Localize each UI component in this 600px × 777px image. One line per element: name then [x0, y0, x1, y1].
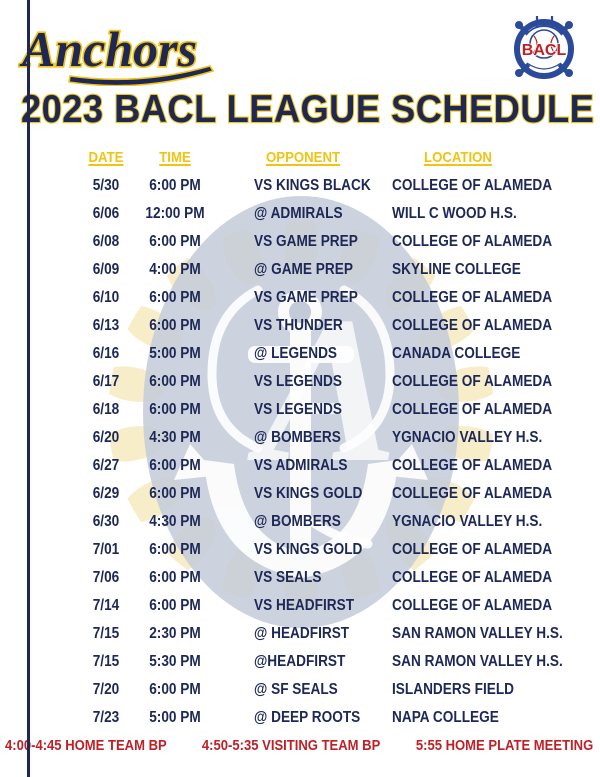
- cell-date: 7/20: [81, 680, 130, 700]
- cell-date: 7/01: [81, 540, 130, 560]
- footer-note-visiting-bp: 4:50-5:35 VISITING TEAM BP: [195, 737, 388, 755]
- cell-time: 6:00 PM: [142, 288, 207, 308]
- table-row: 7/15 5:30 PM @HEADFIRST SAN RAMON VALLEY…: [0, 652, 600, 680]
- cell-opponent: VS THUNDER: [254, 316, 343, 336]
- cell-opponent: @HEADFIRST: [254, 652, 345, 672]
- bacl-circular-logo: BACL: [505, 8, 583, 86]
- cell-opponent: @ HEADFIRST: [254, 624, 349, 644]
- cell-opponent: VS GAME PREP: [254, 232, 358, 252]
- cell-opponent: @ LEGENDS: [254, 344, 337, 364]
- cell-date: 7/14: [81, 596, 130, 616]
- table-row: 5/30 6:00 PM VS KINGS BLACK COLLEGE OF A…: [0, 176, 600, 204]
- cell-time: 12:00 PM: [142, 204, 207, 224]
- table-row: 7/15 2:30 PM @ HEADFIRST SAN RAMON VALLE…: [0, 624, 600, 652]
- cell-date: 6/08: [81, 232, 130, 252]
- table-row: 6/13 6:00 PM VS THUNDER COLLEGE OF ALAME…: [0, 316, 600, 344]
- cell-location: WILL C WOOD H.S.: [392, 204, 517, 224]
- cell-location: COLLEGE OF ALAMEDA: [392, 568, 552, 588]
- cell-location: COLLEGE OF ALAMEDA: [392, 400, 552, 420]
- cell-time: 5:00 PM: [142, 344, 207, 364]
- page-title: 2023 BACL LEAGUE SCHEDULE: [21, 90, 579, 130]
- table-row: 7/01 6:00 PM VS KINGS GOLD COLLEGE OF AL…: [0, 540, 600, 568]
- cell-location: COLLEGE OF ALAMEDA: [392, 484, 552, 504]
- cell-date: 7/15: [81, 652, 130, 672]
- cell-location: SAN RAMON VALLEY H.S.: [392, 652, 563, 672]
- cell-opponent: VS SEALS: [254, 568, 321, 588]
- cell-date: 6/09: [81, 260, 130, 280]
- cell-opponent: @ BOMBERS: [254, 512, 341, 532]
- cell-location: COLLEGE OF ALAMEDA: [392, 540, 552, 560]
- cell-date: 6/16: [81, 344, 130, 364]
- cell-date: 7/15: [81, 624, 130, 644]
- table-row: 6/06 12:00 PM @ ADMIRALS WILL C WOOD H.S…: [0, 204, 600, 232]
- cell-opponent: VS KINGS GOLD: [254, 484, 362, 504]
- left-vertical-rule: [27, 0, 30, 777]
- cell-opponent: VS ADMIRALS: [254, 456, 347, 476]
- cell-date: 6/13: [81, 316, 130, 336]
- cell-opponent: VS GAME PREP: [254, 288, 358, 308]
- cell-date: 6/29: [81, 484, 130, 504]
- cell-date: 6/17: [81, 372, 130, 392]
- cell-opponent: VS KINGS BLACK: [254, 176, 371, 196]
- column-header-opponent: OPPONENT: [266, 148, 340, 168]
- cell-location: YGNACIO VALLEY H.S.: [392, 512, 542, 532]
- cell-opponent: VS LEGENDS: [254, 400, 342, 420]
- cell-date: 5/30: [81, 176, 130, 196]
- cell-opponent: @ GAME PREP: [254, 260, 353, 280]
- table-row: 6/10 6:00 PM VS GAME PREP COLLEGE OF ALA…: [0, 288, 600, 316]
- anchors-script-logo: Anchors: [18, 14, 228, 86]
- table-row: 7/14 6:00 PM VS HEADFIRST COLLEGE OF ALA…: [0, 596, 600, 624]
- table-row: 7/06 6:00 PM VS SEALS COLLEGE OF ALAMEDA: [0, 568, 600, 596]
- table-row: 6/20 4:30 PM @ BOMBERS YGNACIO VALLEY H.…: [0, 428, 600, 456]
- cell-date: 7/23: [81, 708, 130, 728]
- column-header-time: TIME: [142, 148, 207, 168]
- cell-time: 2:30 PM: [142, 624, 207, 644]
- cell-location: COLLEGE OF ALAMEDA: [392, 232, 552, 252]
- cell-time: 6:00 PM: [142, 540, 207, 560]
- cell-opponent: VS KINGS GOLD: [254, 540, 362, 560]
- cell-opponent: @ SF SEALS: [254, 680, 338, 700]
- cell-time: 6:00 PM: [142, 176, 207, 196]
- cell-time: 6:00 PM: [142, 316, 207, 336]
- cell-time: 6:00 PM: [142, 596, 207, 616]
- cell-opponent: @ DEEP ROOTS: [254, 708, 360, 728]
- cell-location: COLLEGE OF ALAMEDA: [392, 372, 552, 392]
- table-row: 6/27 6:00 PM VS ADMIRALS COLLEGE OF ALAM…: [0, 456, 600, 484]
- cell-location: COLLEGE OF ALAMEDA: [392, 456, 552, 476]
- cell-time: 6:00 PM: [142, 456, 207, 476]
- column-header-location: LOCATION: [424, 148, 492, 168]
- cell-location: CANADA COLLEGE: [392, 344, 520, 364]
- cell-date: 6/30: [81, 512, 130, 532]
- table-row: 7/20 6:00 PM @ SF SEALS ISLANDERS FIELD: [0, 680, 600, 708]
- cell-location: COLLEGE OF ALAMEDA: [392, 288, 552, 308]
- cell-date: 6/06: [81, 204, 130, 224]
- table-row: 6/09 4:00 PM @ GAME PREP SKYLINE COLLEGE: [0, 260, 600, 288]
- cell-time: 6:00 PM: [142, 484, 207, 504]
- cell-location: ISLANDERS FIELD: [392, 680, 514, 700]
- cell-location: SAN RAMON VALLEY H.S.: [392, 624, 563, 644]
- cell-location: YGNACIO VALLEY H.S.: [392, 428, 542, 448]
- cell-location: COLLEGE OF ALAMEDA: [392, 316, 552, 336]
- schedule-poster: A Anchors: [0, 0, 600, 777]
- cell-date: 6/10: [81, 288, 130, 308]
- cell-time: 4:30 PM: [142, 428, 207, 448]
- table-row: 6/16 5:00 PM @ LEGENDS CANADA COLLEGE: [0, 344, 600, 372]
- poster-header: Anchors: [0, 0, 600, 145]
- cell-time: 6:00 PM: [142, 568, 207, 588]
- cell-opponent: VS HEADFIRST: [254, 596, 354, 616]
- cell-date: 6/18: [81, 400, 130, 420]
- cell-location: COLLEGE OF ALAMEDA: [392, 176, 552, 196]
- cell-date: 7/06: [81, 568, 130, 588]
- table-header-row: DATE TIME OPPONENT LOCATION: [0, 148, 600, 176]
- cell-date: 6/27: [81, 456, 130, 476]
- cell-time: 6:00 PM: [142, 372, 207, 392]
- cell-date: 6/20: [81, 428, 130, 448]
- cell-time: 5:00 PM: [142, 708, 207, 728]
- cell-time: 6:00 PM: [142, 400, 207, 420]
- cell-time: 4:00 PM: [142, 260, 207, 280]
- cell-location: COLLEGE OF ALAMEDA: [392, 596, 552, 616]
- poster-footer: 4:00-4:45 HOME TEAM BP 4:50-5:35 VISITIN…: [0, 737, 600, 755]
- footer-note-home-plate-meeting: 5:55 HOME PLATE MEETING: [409, 737, 600, 755]
- table-row: 6/30 4:30 PM @ BOMBERS YGNACIO VALLEY H.…: [0, 512, 600, 540]
- column-header-date: DATE: [81, 148, 130, 168]
- cell-time: 6:00 PM: [142, 680, 207, 700]
- cell-opponent: VS LEGENDS: [254, 372, 342, 392]
- table-row: 6/17 6:00 PM VS LEGENDS COLLEGE OF ALAME…: [0, 372, 600, 400]
- cell-opponent: @ ADMIRALS: [254, 204, 343, 224]
- table-row: 6/29 6:00 PM VS KINGS GOLD COLLEGE OF AL…: [0, 484, 600, 512]
- svg-text:Anchors: Anchors: [19, 21, 197, 77]
- schedule-table: DATE TIME OPPONENT LOCATION 5/30 6:00 PM…: [0, 148, 600, 736]
- cell-time: 6:00 PM: [142, 232, 207, 252]
- table-row: 6/08 6:00 PM VS GAME PREP COLLEGE OF ALA…: [0, 232, 600, 260]
- cell-time: 5:30 PM: [142, 652, 207, 672]
- cell-time: 4:30 PM: [142, 512, 207, 532]
- table-row: 6/18 6:00 PM VS LEGENDS COLLEGE OF ALAME…: [0, 400, 600, 428]
- table-row: 7/23 5:00 PM @ DEEP ROOTS NAPA COLLEGE: [0, 708, 600, 736]
- cell-location: NAPA COLLEGE: [392, 708, 499, 728]
- cell-location: SKYLINE COLLEGE: [392, 260, 521, 280]
- svg-text:BACL: BACL: [522, 42, 567, 59]
- cell-opponent: @ BOMBERS: [254, 428, 341, 448]
